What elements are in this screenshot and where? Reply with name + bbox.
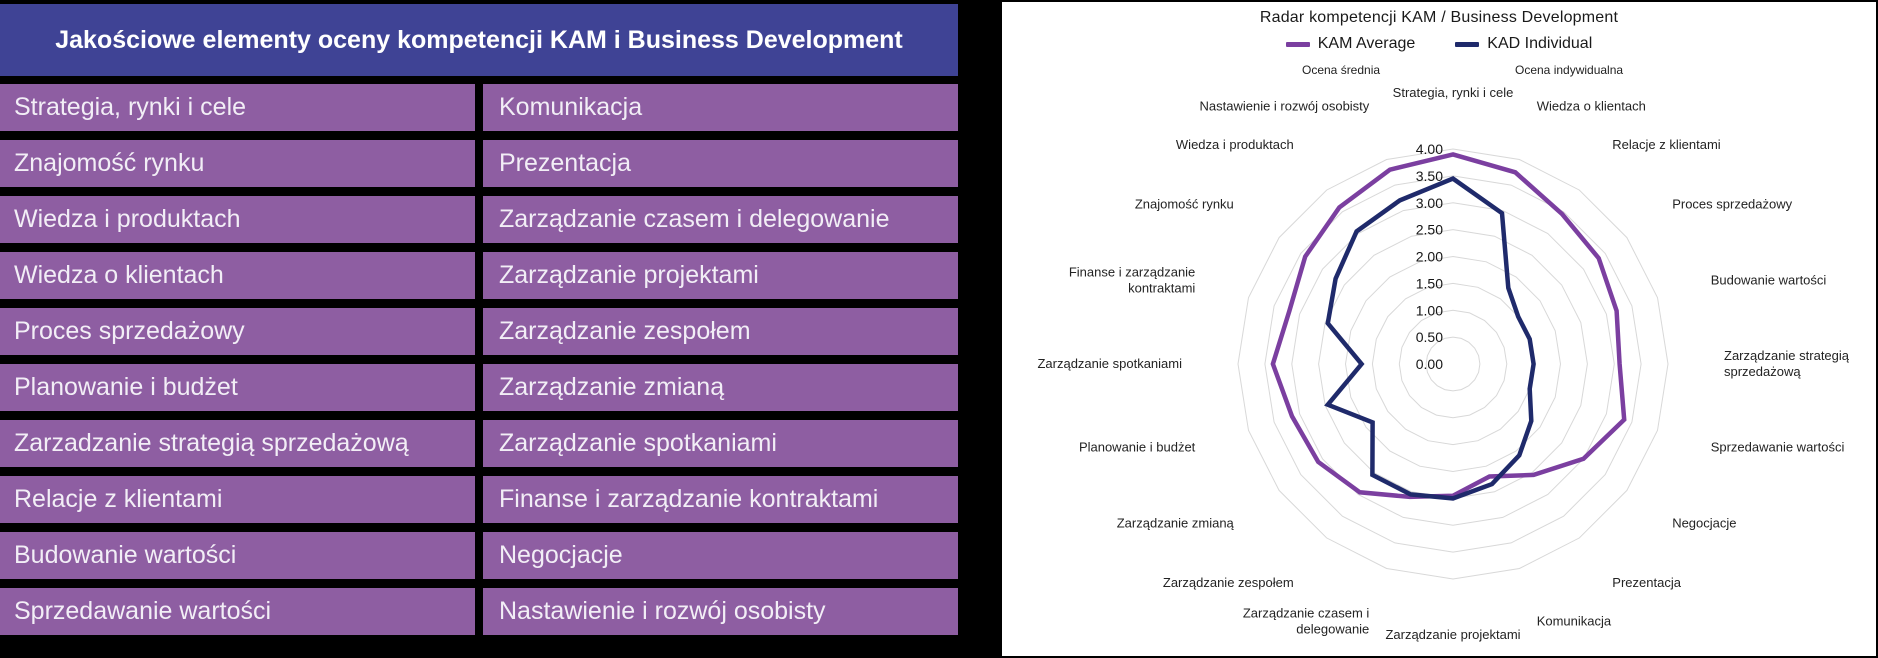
svg-text:Wiedza o klientach: Wiedza o klientach	[1537, 98, 1646, 113]
list-item[interactable]: Zarzadzanie strategią sprzedażową	[0, 420, 475, 467]
svg-text:Zarządzanie zespołem: Zarządzanie zespołem	[1163, 575, 1294, 590]
svg-text:kontraktami: kontraktami	[1128, 280, 1195, 295]
svg-text:Prezentacja: Prezentacja	[1612, 575, 1681, 590]
svg-text:2.50: 2.50	[1416, 222, 1443, 238]
list-item[interactable]: Nastawienie i rozwój osobisty	[483, 588, 958, 635]
svg-text:Nastawienie i rozwój osobisty: Nastawienie i rozwój osobisty	[1200, 98, 1370, 113]
competency-table-panel: Jakościowe elementy oceny kompetencji KA…	[0, 0, 1000, 658]
radar-chart-panel: Radar kompetencji KAM / Business Develop…	[1002, 2, 1876, 656]
svg-text:Wiedza i produktach: Wiedza i produktach	[1176, 137, 1294, 152]
list-item[interactable]: Proces sprzedażowy	[0, 308, 475, 355]
table-title: Jakościowe elementy oceny kompetencji KA…	[0, 4, 958, 76]
radar-plot: 0.000.501.001.502.002.503.003.504.00 Str…	[1002, 2, 1876, 656]
competency-columns: Strategia, rynki i cele Znajomość rynku …	[0, 84, 958, 654]
svg-text:Finanse i zarządzanie: Finanse i zarządzanie	[1069, 264, 1195, 279]
svg-text:Strategia, rynki i cele: Strategia, rynki i cele	[1393, 85, 1514, 100]
svg-text:Zarządzanie strategią: Zarządzanie strategią	[1724, 348, 1850, 363]
svg-text:Budowanie wartości: Budowanie wartości	[1711, 272, 1827, 287]
radar-grid	[1238, 149, 1668, 579]
svg-text:Zarządzanie projektami: Zarządzanie projektami	[1385, 627, 1520, 642]
list-item[interactable]: Zarządzanie projektami	[483, 252, 958, 299]
svg-text:Sprzedawanie wartości: Sprzedawanie wartości	[1711, 440, 1845, 455]
svg-text:Zarządzanie zmianą: Zarządzanie zmianą	[1117, 515, 1235, 530]
list-item[interactable]: Prezentacja	[483, 140, 958, 187]
list-item[interactable]: Komunikacja	[483, 84, 958, 131]
svg-text:1.00: 1.00	[1416, 302, 1443, 318]
radar-svg: 0.000.501.001.502.002.503.003.504.00 Str…	[1002, 2, 1876, 656]
slide-canvas: Jakościowe elementy oceny kompetencji KA…	[0, 0, 1878, 658]
list-item[interactable]: Zarządzanie zespołem	[483, 308, 958, 355]
svg-text:Proces sprzedażowy: Proces sprzedażowy	[1672, 197, 1792, 212]
svg-text:Planowanie i budżet: Planowanie i budżet	[1079, 440, 1196, 455]
list-item[interactable]: Wiedza o klientach	[0, 252, 475, 299]
svg-text:sprzedażową: sprzedażową	[1724, 364, 1801, 379]
competency-column-right: Komunikacja Prezentacja Zarządzanie czas…	[483, 84, 958, 654]
list-item[interactable]: Relacje z klientami	[0, 476, 475, 523]
svg-text:Komunikacja: Komunikacja	[1537, 614, 1612, 629]
svg-text:4.00: 4.00	[1416, 141, 1443, 157]
svg-text:3.50: 3.50	[1416, 168, 1443, 184]
svg-text:Relacje z klientami: Relacje z klientami	[1612, 137, 1720, 152]
list-item[interactable]: Wiedza i produktach	[0, 196, 475, 243]
list-item[interactable]: Negocjacje	[483, 532, 958, 579]
svg-text:Zarządzanie czasem i: Zarządzanie czasem i	[1243, 606, 1370, 621]
competency-column-left: Strategia, rynki i cele Znajomość rynku …	[0, 84, 475, 654]
radar-tick-labels: 0.000.501.001.502.002.503.003.504.00	[1416, 141, 1443, 372]
svg-text:2.00: 2.00	[1416, 249, 1443, 265]
svg-text:Znajomość rynku: Znajomość rynku	[1135, 197, 1234, 212]
list-item[interactable]: Zarządzanie zmianą	[483, 364, 958, 411]
svg-text:0.50: 0.50	[1416, 329, 1443, 345]
list-item[interactable]: Sprzedawanie wartości	[0, 588, 475, 635]
list-item[interactable]: Finanse i zarządzanie kontraktami	[483, 476, 958, 523]
radar-series	[1273, 154, 1624, 498]
svg-text:3.00: 3.00	[1416, 195, 1443, 211]
list-item[interactable]: Budowanie wartości	[0, 532, 475, 579]
radar-axis-labels: Strategia, rynki i celeWiedza o klientac…	[1037, 85, 1849, 642]
list-item[interactable]: Strategia, rynki i cele	[0, 84, 475, 131]
svg-text:Negocjacje: Negocjacje	[1672, 515, 1736, 530]
list-item[interactable]: Znajomość rynku	[0, 140, 475, 187]
svg-text:0.00: 0.00	[1416, 356, 1443, 372]
list-item[interactable]: Zarządzanie spotkaniami	[483, 420, 958, 467]
svg-text:delegowanie: delegowanie	[1296, 622, 1369, 637]
list-item[interactable]: Zarządzanie czasem i delegowanie	[483, 196, 958, 243]
svg-text:1.50: 1.50	[1416, 275, 1443, 291]
svg-text:Zarządzanie spotkaniami: Zarządzanie spotkaniami	[1037, 356, 1182, 371]
list-item[interactable]: Planowanie i budżet	[0, 364, 475, 411]
